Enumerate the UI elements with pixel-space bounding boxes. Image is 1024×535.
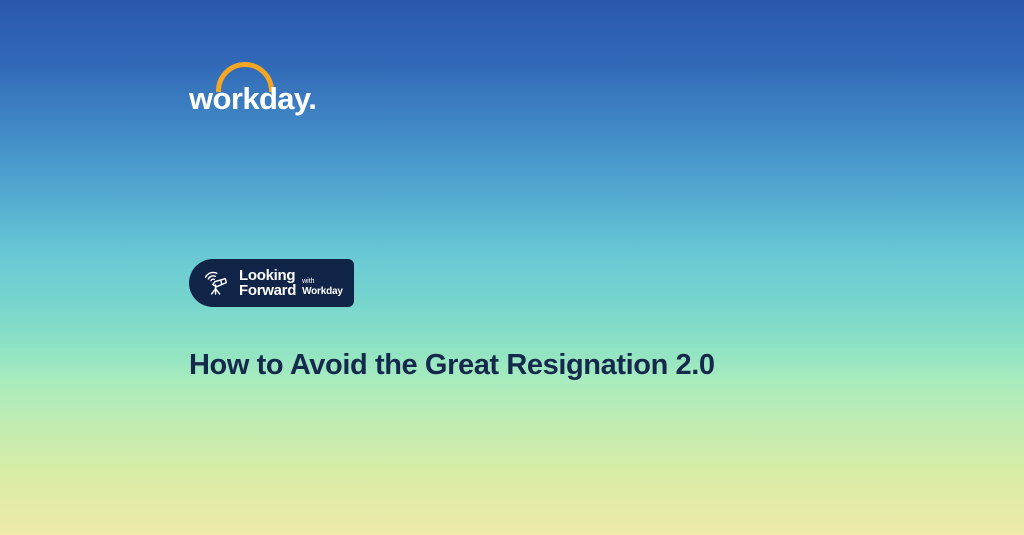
telescope-tripod-icon — [197, 265, 233, 301]
workday-wordmark: workday. — [189, 82, 316, 116]
slide-canvas: workday. Looking Forward with — [0, 0, 1024, 535]
badge-sub-brand: Workday — [302, 286, 343, 297]
badge-sublabel: with Workday — [302, 278, 343, 298]
looking-forward-badge: Looking Forward with Workday — [189, 259, 354, 307]
badge-line-2: Forward — [239, 283, 296, 298]
workday-logo: workday. — [189, 62, 309, 114]
badge-text-group: Looking Forward with Workday — [239, 268, 343, 298]
page-title: How to Avoid the Great Resignation 2.0 — [189, 349, 715, 382]
badge-line-1: Looking — [239, 268, 296, 283]
badge-sub-with: with — [302, 278, 343, 286]
badge-headline: Looking Forward — [239, 268, 296, 298]
